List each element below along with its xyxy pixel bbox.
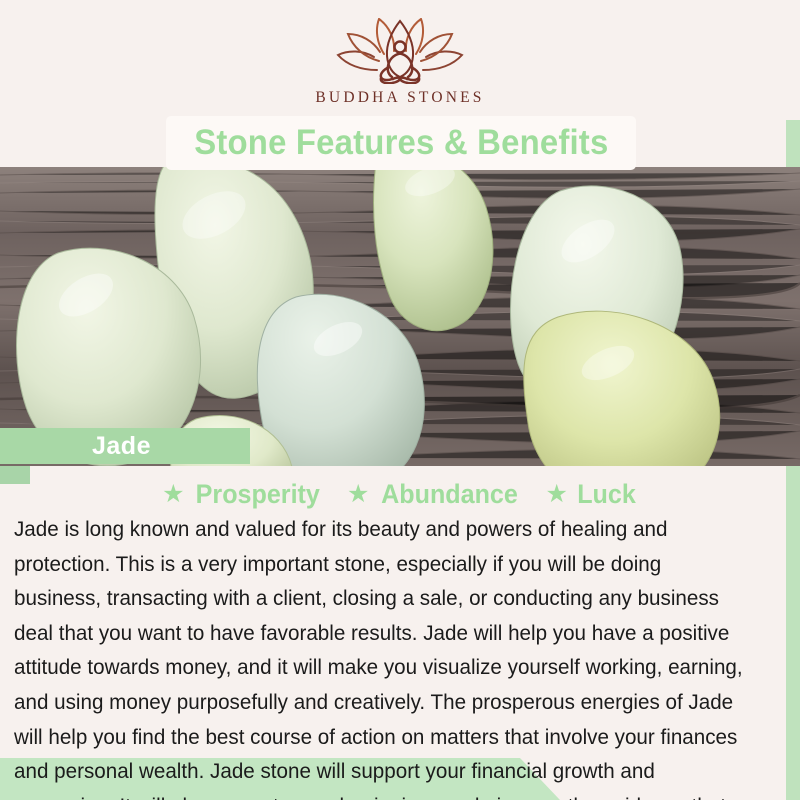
brand-name: BUDDHA STONES [315, 89, 484, 107]
stone-infographic-card: Jade [0, 0, 800, 800]
stone-name-label: Jade [0, 428, 250, 464]
page-title: Stone Features & Benefits [194, 123, 608, 163]
star-icon: ★ [347, 482, 369, 507]
star-icon: ★ [545, 482, 567, 507]
benefit-label: Prosperity [196, 479, 320, 510]
benefit-item-abundance: ★ Abundance [347, 479, 523, 510]
star-icon: ★ [162, 482, 184, 507]
brand-header: BUDDHA STONES [0, 0, 800, 120]
stone-description: Jade is long known and valued for its be… [14, 512, 753, 800]
benefit-item-prosperity: ★ Prosperity [162, 479, 325, 510]
benefit-label: Luck [577, 479, 636, 510]
benefit-label: Abundance [382, 479, 519, 510]
section-title-band: Stone Features & Benefits [166, 116, 636, 170]
lotus-meditation-icon [325, 18, 475, 84]
benefit-item-luck: ★ Luck [545, 479, 637, 510]
benefits-row: ★ Prosperity ★ Abundance ★ Luck [0, 477, 800, 511]
stone-name-text: Jade [0, 432, 151, 461]
jade-stones-photo [0, 167, 800, 466]
